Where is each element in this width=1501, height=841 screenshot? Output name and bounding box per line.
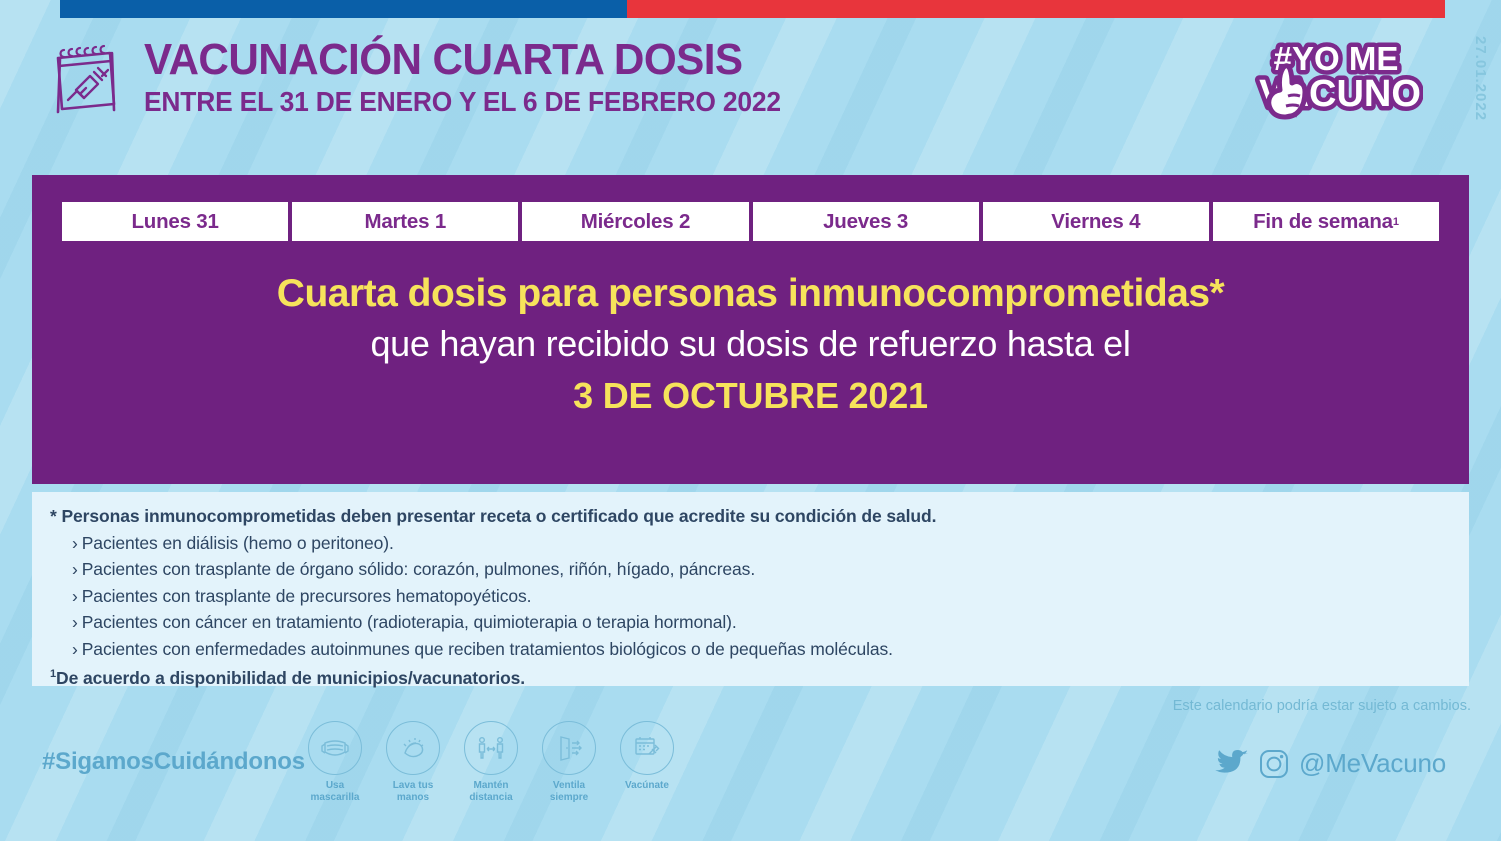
- twitter-icon[interactable]: [1215, 750, 1249, 778]
- day-tab-lunes[interactable]: Lunes 31: [62, 202, 288, 241]
- care-label-line1: Lava tus: [393, 780, 434, 791]
- notes-box: * Personas inmunocomprometidas deben pre…: [32, 492, 1469, 686]
- care-item-wash-hands: Lava tus manos: [386, 721, 440, 804]
- flag-bar-red-segment: [627, 0, 1445, 18]
- list-item-text: Pacientes con enfermedades autoinmunes q…: [82, 639, 893, 659]
- chevron-right-icon: ›: [72, 533, 78, 553]
- care-label-line2: distancia: [469, 792, 512, 803]
- care-label-line2: siempre: [550, 792, 588, 803]
- care-label-line1: Usa: [326, 780, 344, 791]
- day-tab-martes[interactable]: Martes 1: [292, 202, 518, 241]
- schedule-panel: Lunes 31 Martes 1 Miércoles 2 Jueves 3 V…: [32, 175, 1469, 484]
- list-item-text: Pacientes con trasplante de órgano sólid…: [82, 559, 755, 579]
- care-item-label: Ventila siempre: [542, 780, 596, 804]
- care-item-mask: Usa mascarilla: [308, 721, 362, 804]
- day-tab-label: Fin de semana: [1253, 210, 1393, 234]
- day-tab-miercoles[interactable]: Miércoles 2: [522, 202, 748, 241]
- page-subtitle: ENTRE EL 31 DE ENERO Y EL 6 DE FEBRERO 2…: [144, 86, 781, 118]
- care-item-vaccinate: Vacúnate: [620, 721, 674, 804]
- notes-footer-text: De acuerdo a disponibilidad de municipio…: [56, 668, 525, 688]
- list-item-text: Pacientes con cáncer en tratamiento (rad…: [82, 612, 737, 632]
- list-item: ›Pacientes en diálisis (hemo o peritoneo…: [50, 530, 1469, 557]
- yo-me-vacuno-logo: #YO ME #YO ME VACUNO VACUNO: [1248, 30, 1423, 140]
- care-item-distance: Mantén distancia: [464, 721, 518, 804]
- disclaimer-text: Este calendario podría estar sujeto a ca…: [1173, 698, 1471, 714]
- day-tab-fin-de-semana[interactable]: Fin de semana1: [1213, 202, 1439, 241]
- list-item-text: Pacientes con trasplante de precursores …: [82, 586, 532, 606]
- care-item-label: Lava tus manos: [386, 780, 440, 804]
- care-item-label: Mantén distancia: [464, 780, 518, 804]
- day-tab-label: Martes 1: [364, 210, 446, 234]
- chevron-right-icon: ›: [72, 639, 78, 659]
- headline-block: Cuarta dosis para personas inmunocomprom…: [32, 271, 1469, 417]
- campaign-hashtag: #SigamosCuidándonos: [42, 748, 305, 776]
- list-item-text: Pacientes en diálisis (hemo o peritoneo)…: [82, 533, 394, 553]
- list-item: ›Pacientes con trasplante de precursores…: [50, 583, 1469, 610]
- ventilate-icon: [542, 721, 596, 775]
- date-stamp: 27.01.2022: [1472, 36, 1489, 121]
- page-title: VACUNACIÓN CUARTA DOSIS: [144, 38, 781, 83]
- list-item: ›Pacientes con enfermedades autoinmunes …: [50, 636, 1469, 663]
- header-text: VACUNACIÓN CUARTA DOSIS ENTRE EL 31 DE E…: [144, 38, 807, 122]
- instagram-icon[interactable]: [1259, 749, 1289, 779]
- chevron-right-icon: ›: [72, 559, 78, 579]
- headline-line-1: Cuarta dosis para personas inmunocomprom…: [32, 271, 1469, 317]
- care-label-line1: Ventila: [553, 780, 585, 791]
- poster-canvas: VACUNACIÓN CUARTA DOSIS ENTRE EL 31 DE E…: [0, 0, 1501, 841]
- care-measures-row: Usa mascarilla Lava tus manos: [308, 721, 674, 804]
- day-tab-jueves[interactable]: Jueves 3: [753, 202, 979, 241]
- care-label-line1: Mantén: [474, 780, 509, 791]
- care-label-line2: manos: [397, 792, 429, 803]
- social-links: @MeVacuno: [1215, 748, 1446, 779]
- social-handle[interactable]: @MeVacuno: [1299, 748, 1446, 779]
- day-tab-footnote-marker: 1: [1393, 216, 1399, 228]
- header: VACUNACIÓN CUARTA DOSIS ENTRE EL 31 DE E…: [46, 38, 807, 122]
- wash-hands-icon: [386, 721, 440, 775]
- day-tab-label: Lunes 31: [131, 210, 218, 234]
- care-item-ventilate: Ventila siempre: [542, 721, 596, 804]
- distance-icon: [464, 721, 518, 775]
- day-tabs-row: Lunes 31 Martes 1 Miércoles 2 Jueves 3 V…: [62, 202, 1439, 241]
- headline-line-3: 3 DE OCTUBRE 2021: [32, 374, 1469, 417]
- chevron-right-icon: ›: [72, 612, 78, 632]
- flag-bar: [60, 0, 1445, 18]
- headline-line-2: que hayan recibido su dosis de refuerzo …: [32, 321, 1469, 368]
- care-item-label: Usa mascarilla: [308, 780, 362, 804]
- list-item: ›Pacientes con cáncer en tratamiento (ra…: [50, 609, 1469, 636]
- vaccinate-icon: [620, 721, 674, 775]
- list-item: ›Pacientes con trasplante de órgano sóli…: [50, 556, 1469, 583]
- notes-footer: 1De acuerdo a disponibilidad de municipi…: [50, 665, 1469, 692]
- chevron-right-icon: ›: [72, 586, 78, 606]
- flag-bar-blue-segment: [60, 0, 627, 18]
- mask-icon: [308, 721, 362, 775]
- day-tab-label: Jueves 3: [823, 210, 908, 234]
- day-tab-label: Viernes 4: [1051, 210, 1140, 234]
- care-label-line2: mascarilla: [311, 792, 360, 803]
- notes-intro: * Personas inmunocomprometidas deben pre…: [50, 503, 1469, 530]
- day-tab-label: Miércoles 2: [581, 210, 690, 234]
- care-label-line1: Vacúnate: [625, 780, 669, 791]
- calendar-syringe-icon: [46, 40, 126, 120]
- day-tab-viernes[interactable]: Viernes 4: [983, 202, 1209, 241]
- care-item-label: Vacúnate: [620, 780, 674, 792]
